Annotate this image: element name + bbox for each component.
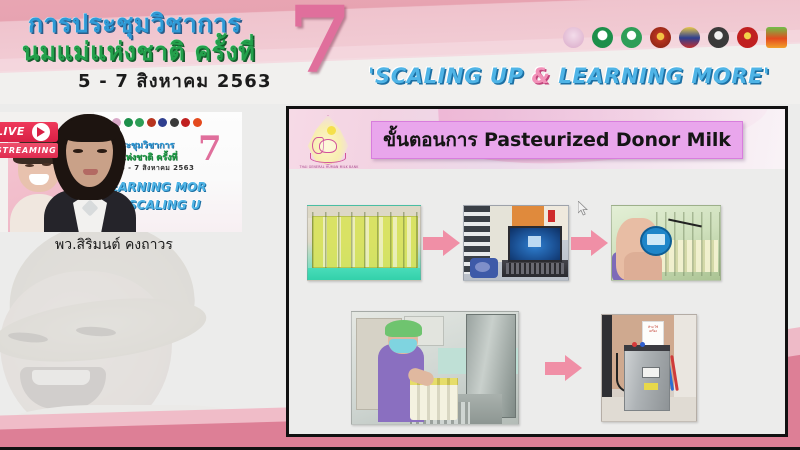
inset-tagline-line2: SCALING U [128, 198, 201, 212]
organization-logo-row [562, 27, 788, 55]
arrow-right-3-icon [543, 353, 585, 383]
speaker-eye-left [73, 149, 83, 153]
logo-thai-crest-icon [679, 27, 700, 48]
logo-ministry-public-health-icon [621, 27, 642, 48]
arrow-right-1-icon [421, 228, 463, 258]
tagline-ampersand: & [532, 64, 551, 88]
logo-gold-emblem-icon [650, 27, 671, 48]
play-triangle-icon [37, 127, 45, 137]
bottles-rack-rods [312, 212, 418, 270]
inset-logo-6 [170, 118, 179, 127]
laptop-keyboard [506, 263, 564, 274]
live-streaming-badge[interactable]: LIVE STREAMING [0, 118, 58, 162]
laptop-bg-red-marker [548, 210, 555, 222]
org-logo-item [736, 27, 759, 55]
child-eye-left [25, 164, 34, 167]
streaming-label: STREAMING [0, 143, 58, 158]
org-logo-item [620, 27, 643, 55]
thermometer-display [647, 234, 665, 245]
pasteurizer-knob-red [632, 342, 637, 347]
org-logo-item [707, 27, 730, 55]
inset-logo-5 [158, 118, 167, 127]
nurse-face-mask [389, 339, 417, 353]
logo-royal-seal-icon [563, 27, 584, 48]
pasteurizer-knob-blue [640, 342, 645, 347]
milk-droplet-dot-icon [327, 126, 336, 135]
logo-caption: THAI GENERAL HUMAN MILK BANK [299, 165, 359, 169]
slide-title-banner: ขั้นตอนการ Pasteurized Donor Milk [371, 121, 743, 159]
tagline-suffix: LEARNING MORE' [550, 64, 770, 88]
header-edition-number: 7 [288, 0, 352, 86]
slide-title: ขั้นตอนการ Pasteurized Donor Milk [383, 125, 731, 155]
thermo-hand-lower [624, 252, 662, 281]
human-milk-bank-logo: THAI GENERAL HUMAN MILK BANK [297, 113, 361, 181]
org-logo-item [678, 27, 701, 55]
inset-logo-7 [181, 118, 190, 127]
cradling-hands-icon [310, 153, 346, 163]
photo-thermometer-check [611, 205, 721, 281]
nurse-surgical-cap [385, 320, 422, 337]
process-flow-row-top [307, 205, 721, 281]
org-logo-item [591, 27, 614, 55]
baby-figure-icon [319, 139, 337, 153]
header-date: 5 - 7 สิงหาคม 2563 [78, 66, 272, 95]
photo-nurse-washing-bottles [351, 311, 519, 425]
arrow-right-2-icon [569, 228, 611, 258]
speaker-name-caption: พว.สิริมนต์ คงถาวร [55, 234, 173, 256]
speaker-fringe [60, 118, 120, 142]
tagline-prefix: 'SCALING UP [368, 64, 532, 88]
pasteurizer-body [624, 349, 670, 411]
photo-pasteurizer-machine: ห้าม ใช้ เครื่อง [601, 314, 697, 422]
pasteurizer-lid [624, 345, 670, 351]
logo-green-circle-health-icon [592, 27, 613, 48]
bottles-floor [308, 268, 421, 281]
conference-header-banner: การประชุมวิชาการ นมแม่แห่งชาติ ครั้งที่ … [0, 0, 800, 104]
photo-laptop-workstation [463, 205, 569, 281]
inset-logo-8 [193, 118, 202, 127]
machine-bg-dark-strip [602, 315, 612, 397]
process-flow-row-bottom: ห้าม ใช้ เครื่อง [351, 311, 697, 425]
header-tagline: 'SCALING UP & LEARNING MORE' [368, 64, 770, 88]
org-logo-item [562, 27, 585, 55]
speaker-eye-right [97, 149, 107, 153]
logo-black-seal-icon [708, 27, 729, 48]
machine-sign-text: ห้าม ใช้ เครื่อง [644, 325, 662, 333]
photo-milk-bottles-rack [307, 205, 421, 281]
inset-edition-number: 7 [198, 132, 222, 166]
laptop-screen-icon [528, 236, 541, 247]
inset-logo-4 [147, 118, 156, 127]
mouse-cursor-icon [578, 201, 590, 217]
speaker-mouth [83, 169, 98, 175]
pasteurizer-yellow-label [644, 383, 658, 390]
slide-screenshot: การประชุมวิชาการ นมแม่แห่งชาติ ครั้งที่ … [0, 0, 800, 450]
org-logo-item [649, 27, 672, 55]
watermark-teeth [32, 370, 90, 385]
pasteurizer-control-display [642, 367, 660, 378]
laptop-mouse [475, 262, 490, 272]
logo-red-seal-icon [737, 27, 758, 48]
org-logo-item [765, 27, 788, 55]
presentation-slide-panel: THAI GENERAL HUMAN MILK BANK ขั้นตอนการ … [286, 106, 788, 437]
logo-thaihealth-sss-icon [766, 27, 787, 48]
